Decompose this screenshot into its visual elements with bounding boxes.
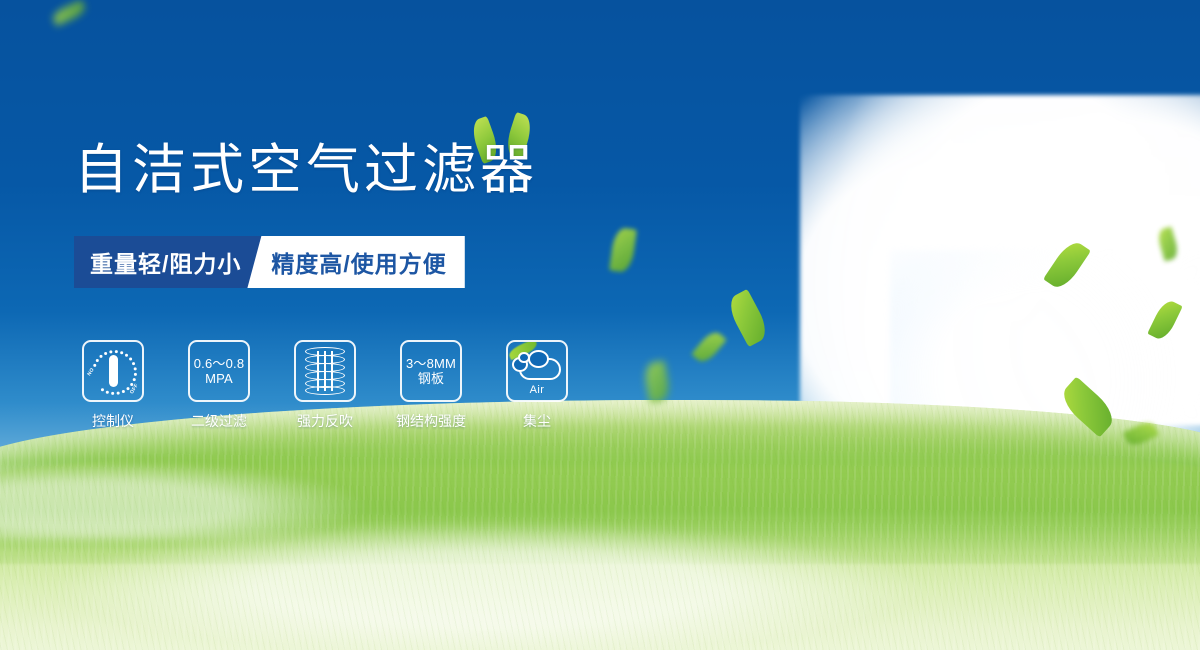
pressure-value: 0.6～0.8	[194, 356, 245, 371]
floating-leaf-icon	[691, 328, 727, 366]
page-title: 自洁式空气过滤器	[74, 143, 538, 197]
steel-thickness: 3～8MM	[406, 356, 456, 371]
feature-label: 二级过滤	[191, 411, 247, 431]
floating-leaf-icon	[724, 289, 771, 347]
feature-label: 钢结构强度	[396, 411, 466, 431]
grass-path-highlight	[0, 502, 1200, 650]
floating-leaf-icon	[609, 227, 637, 274]
floating-leaf-icon	[1156, 226, 1180, 261]
air-text: Air	[510, 384, 564, 396]
cloud-bump	[518, 352, 530, 363]
steel-icon: 3～8MM 钢板	[400, 340, 462, 402]
floating-leaf-icon	[1147, 298, 1183, 343]
product-hero-banner: 自洁式空气过滤器 重量轻/阻力小 精度高/使用方便	[0, 0, 1200, 650]
pressure-unit: MPA	[205, 371, 233, 386]
feature-label: 集尘	[523, 411, 551, 431]
gauge-dial: NO OFF	[87, 347, 139, 395]
feature-list: NO OFF 控制仪 0.6～0.8 MPA 二级过滤	[82, 340, 568, 431]
floating-leaf-icon	[51, 0, 88, 26]
gauge-icon: NO OFF	[82, 340, 144, 402]
cloud-shape: Air	[510, 348, 564, 394]
subtitle-right-tag: 精度高/使用方便	[247, 236, 464, 288]
grass-hill-highlight	[0, 420, 640, 540]
cloud-air-icon: Air	[506, 340, 568, 402]
cumulus-cloud-right	[800, 95, 1200, 425]
feature-item-control-instrument[interactable]: NO OFF 控制仪	[82, 340, 144, 431]
feature-label: 强力反吹	[297, 411, 353, 431]
steel-material: 钢板	[418, 371, 444, 386]
feature-item-two-stage-filter[interactable]: 0.6～0.8 MPA 二级过滤	[188, 340, 250, 431]
subtitle-left-tag: 重量轻/阻力小	[74, 236, 261, 288]
feature-item-dust-collection[interactable]: Air 集尘	[506, 340, 568, 431]
pressure-icon: 0.6～0.8 MPA	[188, 340, 250, 402]
feature-label: 控制仪	[92, 411, 134, 431]
grass-far-band	[0, 444, 1200, 564]
grass-field	[0, 400, 1200, 650]
coil-shape	[305, 347, 345, 395]
cloud-bump	[528, 350, 549, 368]
floating-leaf-icon	[1043, 238, 1091, 293]
gauge-needle	[109, 355, 118, 387]
coil-icon	[294, 340, 356, 402]
floating-leaf-icon	[643, 360, 672, 403]
feature-item-strong-blowback[interactable]: 强力反吹	[294, 340, 356, 431]
gauge-label-no: NO	[86, 367, 95, 377]
feature-item-steel-strength[interactable]: 3～8MM 钢板 钢结构强度	[400, 340, 462, 431]
subtitle-banner: 重量轻/阻力小 精度高/使用方便	[74, 236, 465, 288]
